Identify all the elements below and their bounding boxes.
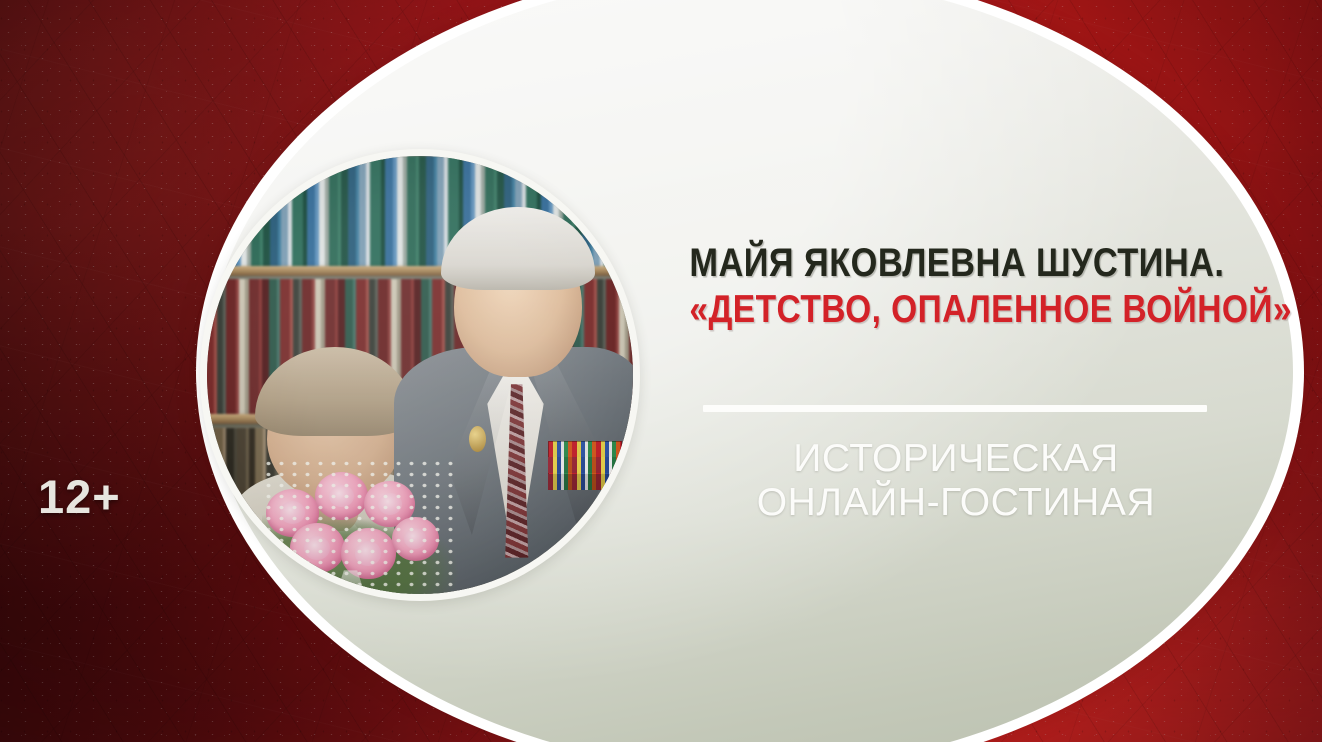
event-title-line-1: МАЙЯ ЯКОВЛЕВНА ШУСТИНА.: [689, 243, 1222, 285]
portrait-photo: [207, 156, 633, 594]
poster-canvas: МАЙЯ ЯКОВЛЕВНА ШУСТИНА. «ДЕТСТВО, ОПАЛЕН…: [0, 0, 1322, 742]
subtitle-line-2: ОНЛАЙН-ГОСТИНАЯ: [646, 481, 1266, 525]
event-format-subtitle: ИСТОРИЧЕСКАЯ ОНЛАЙН-ГОСТИНАЯ: [646, 437, 1266, 526]
age-rating-badge: 12+: [38, 469, 121, 524]
title-divider-rule: [703, 405, 1207, 412]
photo-lighting-overlay: [207, 156, 633, 594]
subtitle-line-1: ИСТОРИЧЕСКАЯ: [646, 437, 1266, 481]
headline-block: МАЙЯ ЯКОВЛЕВНА ШУСТИНА. «ДЕТСТВО, ОПАЛЕН…: [646, 243, 1266, 330]
event-title-line-2: «ДЕТСТВО, ОПАЛЕННОЕ ВОЙНОЙ»: [689, 290, 1222, 331]
